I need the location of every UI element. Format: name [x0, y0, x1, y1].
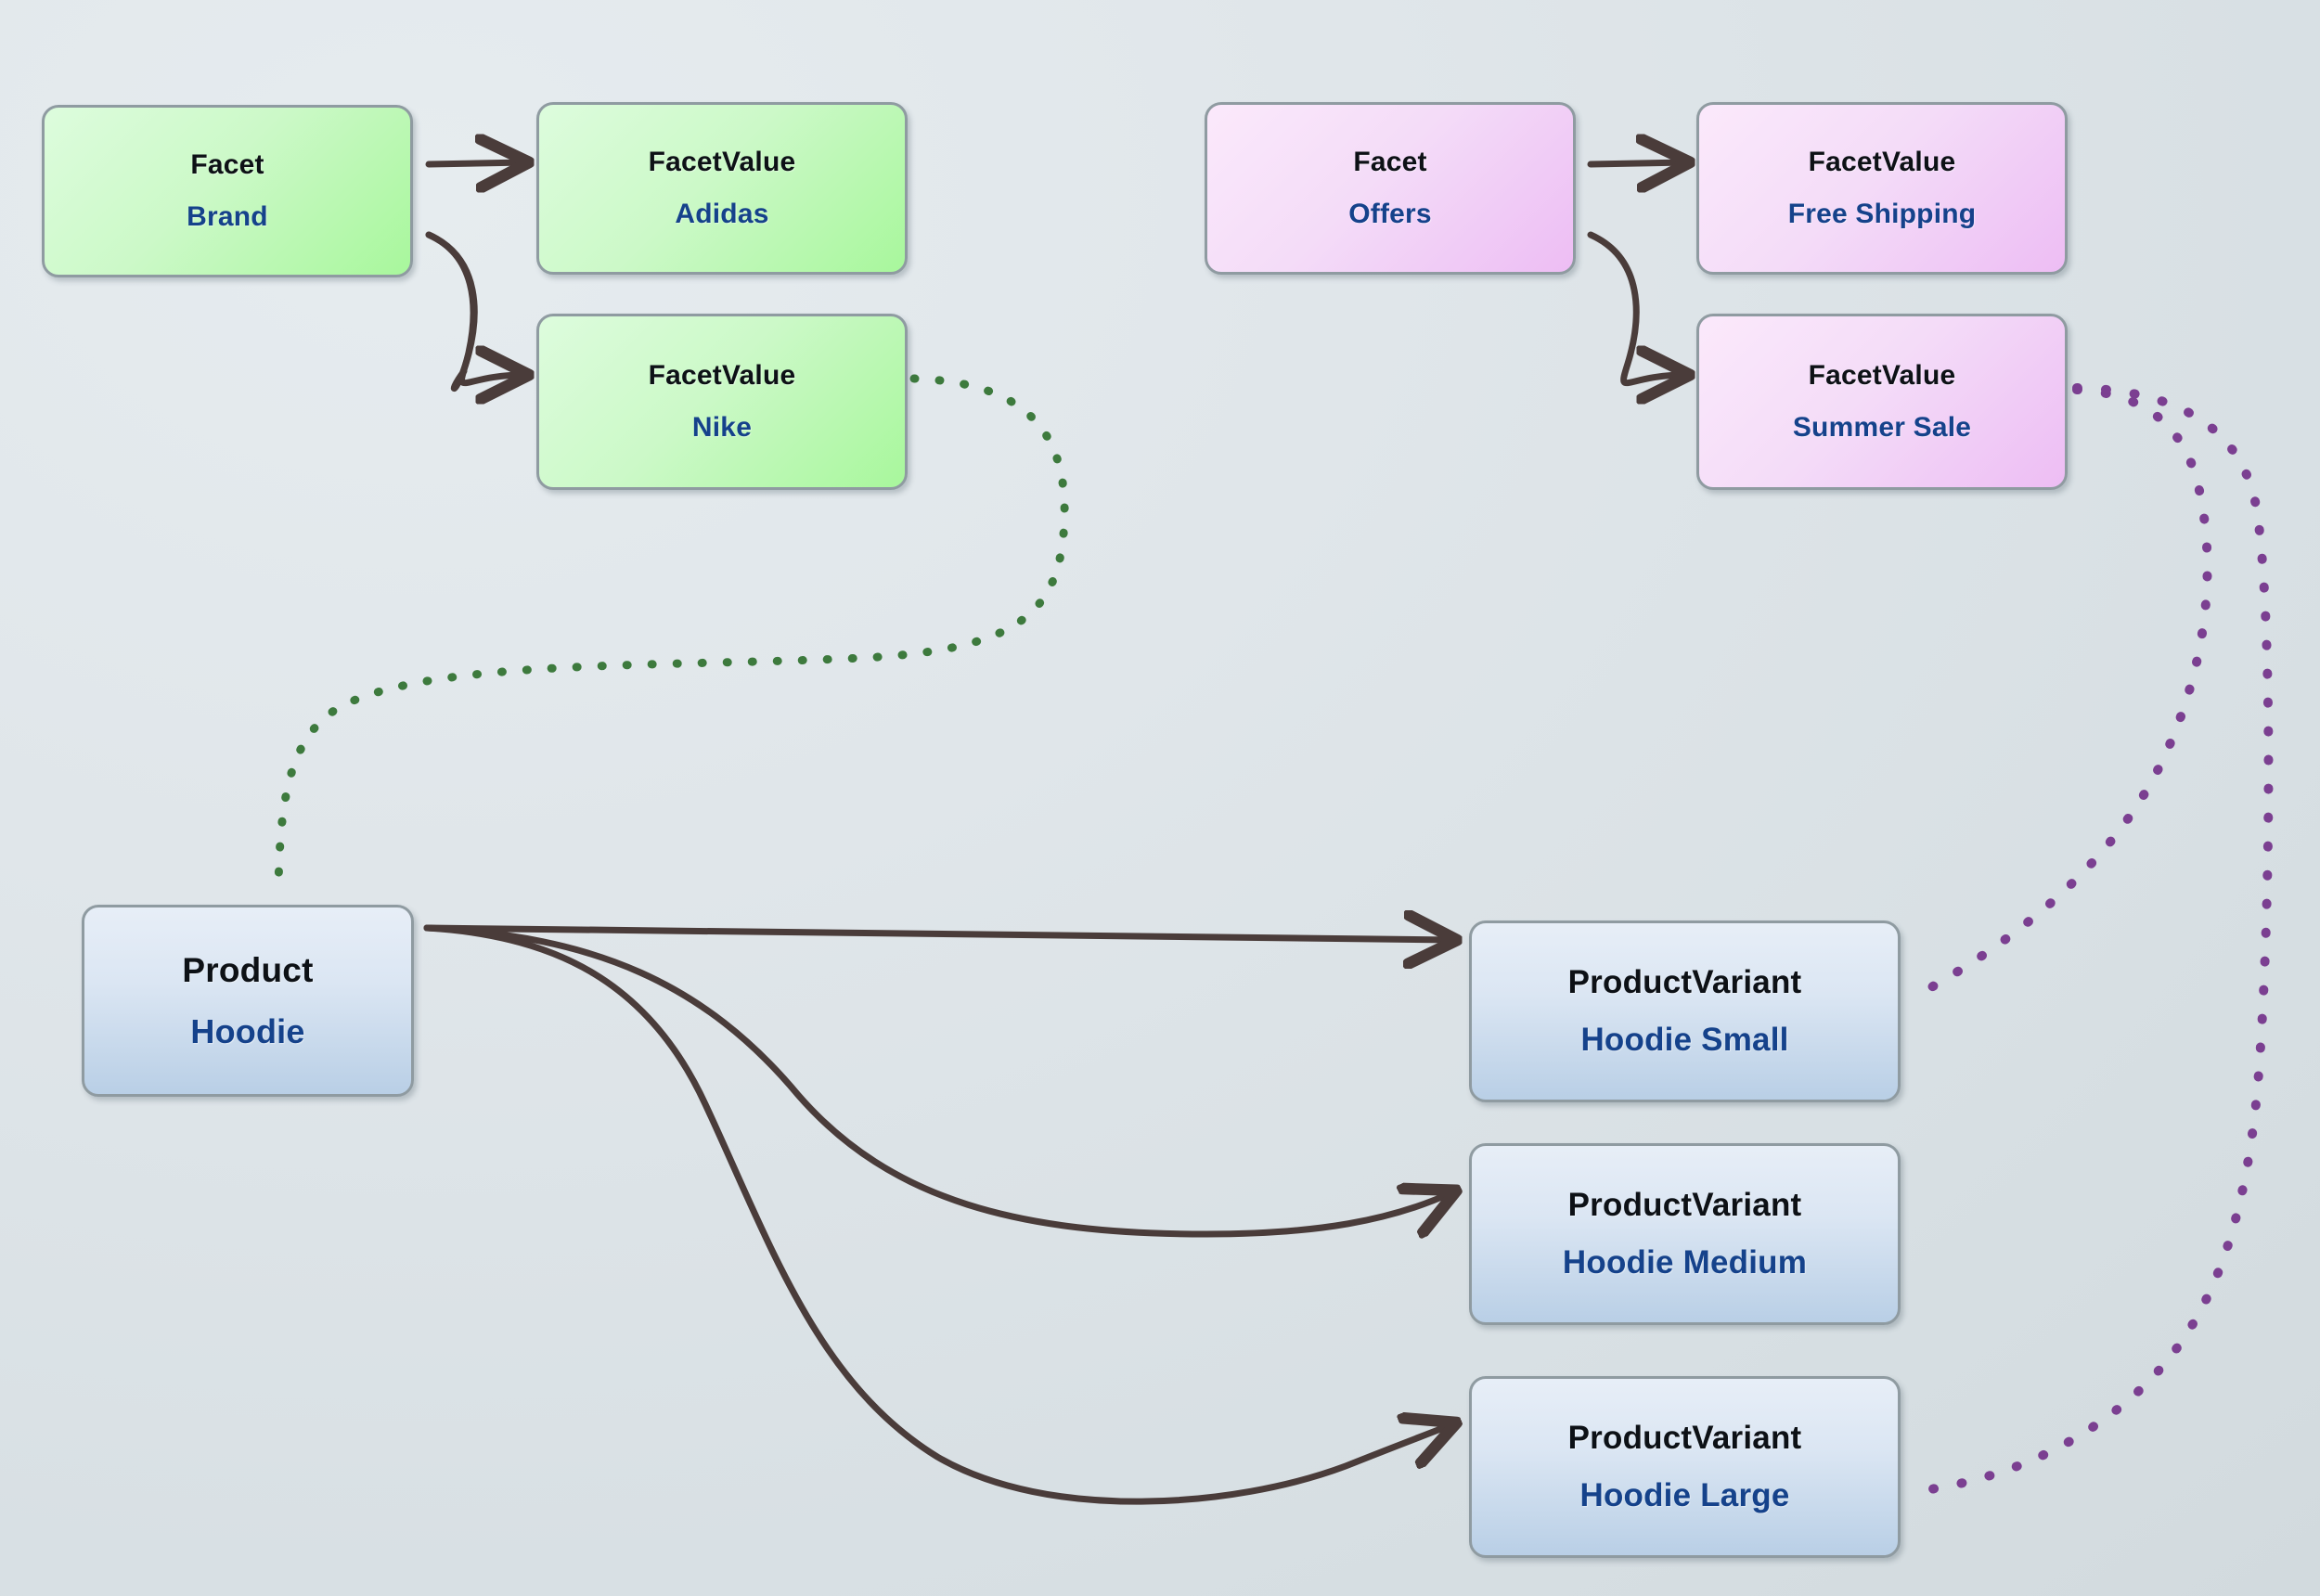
node-type-label: ProductVariant [1568, 1187, 1802, 1224]
node-productvariant-hoodie-small[interactable]: ProductVariant Hoodie Small [1469, 920, 1901, 1102]
edge-offers-to-freeshipping [1591, 162, 1685, 164]
node-facet-offers[interactable]: Facet Offers [1205, 102, 1576, 275]
node-type-label: FacetValue [649, 360, 796, 392]
node-facetvalue-adidas[interactable]: FacetValue Adidas [536, 102, 908, 275]
node-type-label: Facet [190, 149, 264, 181]
node-value-label: Adidas [675, 199, 768, 230]
diagram-canvas: Facet Brand FacetValue Adidas FacetValue… [0, 0, 2320, 1596]
node-productvariant-hoodie-medium[interactable]: ProductVariant Hoodie Medium [1469, 1143, 1901, 1325]
edge-product-to-hoodie-medium [427, 928, 1452, 1234]
node-facetvalue-summer-sale[interactable]: FacetValue Summer Sale [1696, 314, 2068, 490]
node-value-label: Hoodie Medium [1563, 1244, 1807, 1281]
node-value-label: Nike [692, 412, 752, 444]
node-type-label: ProductVariant [1568, 964, 1802, 1001]
node-value-label: Free Shipping [1788, 199, 1977, 230]
node-facet-brand[interactable]: Facet Brand [42, 105, 413, 277]
node-productvariant-hoodie-large[interactable]: ProductVariant Hoodie Large [1469, 1376, 1901, 1558]
node-value-label: Hoodie Large [1579, 1477, 1789, 1514]
node-value-label: Hoodie Small [1580, 1022, 1788, 1059]
node-type-label: Product [182, 951, 313, 990]
node-value-label: Hoodie [190, 1012, 304, 1051]
node-facetvalue-free-shipping[interactable]: FacetValue Free Shipping [1696, 102, 2068, 275]
edge-brand-to-adidas [429, 162, 524, 164]
edge-product-to-hoodie-small [427, 928, 1452, 940]
node-type-label: ProductVariant [1568, 1420, 1802, 1457]
edge-product-to-hoodie-large [427, 928, 1452, 1501]
node-product-hoodie[interactable]: Product Hoodie [82, 905, 414, 1097]
edge-summersale-to-hoodie-large [1912, 388, 2269, 1492]
edge-brand-to-nike [429, 235, 473, 389]
node-type-label: FacetValue [649, 147, 796, 178]
node-facetvalue-nike[interactable]: FacetValue Nike [536, 314, 908, 490]
node-type-label: FacetValue [1809, 147, 1956, 178]
node-type-label: Facet [1353, 147, 1426, 178]
node-value-label: Summer Sale [1793, 412, 1971, 444]
node-value-label: Brand [187, 201, 268, 233]
node-type-label: FacetValue [1809, 360, 1956, 392]
edge-brand-to-nike-tail [429, 235, 524, 383]
edge-offers-to-summersale [1591, 235, 1685, 383]
node-value-label: Offers [1348, 199, 1432, 230]
